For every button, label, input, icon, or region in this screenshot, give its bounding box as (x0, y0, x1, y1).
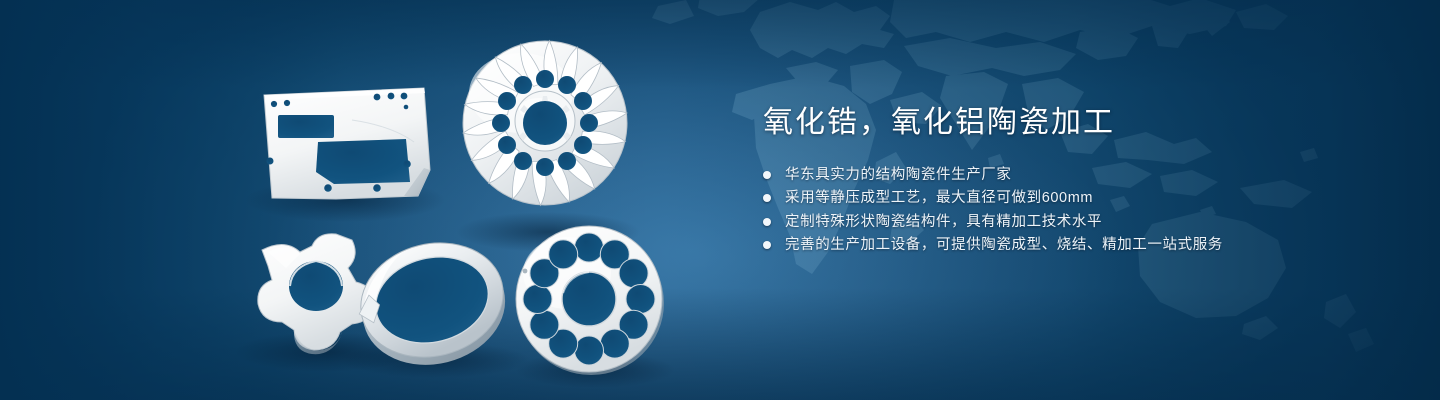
bullet-dot-icon (763, 171, 771, 179)
bullet-dot-icon (763, 241, 771, 249)
feature-text: 采用等静压成型工艺，最大直径可做到600mm (785, 191, 1093, 206)
ceramic-products-image (0, 0, 720, 400)
ceramic-plate-part (264, 88, 430, 199)
feature-text: 完善的生产加工设备，可提供陶瓷成型、烧结、精加工一站式服务 (785, 238, 1223, 253)
list-item: 完善的生产加工设备，可提供陶瓷成型、烧结、精加工一站式服务 (763, 238, 1403, 253)
feature-text: 华东具实力的结构陶瓷件生产厂家 (785, 168, 1012, 183)
promo-banner: 氧化锆，氧化铝陶瓷加工 华东具实力的结构陶瓷件生产厂家 采用等静压成型工艺，最大… (0, 0, 1440, 400)
banner-title: 氧化锆，氧化铝陶瓷加工 (763, 104, 1403, 142)
feature-text: 定制特殊形状陶瓷结构件，具有精加工技术水平 (785, 215, 1102, 230)
list-item: 定制特殊形状陶瓷结构件，具有精加工技术水平 (763, 215, 1403, 230)
list-item: 采用等静压成型工艺，最大直径可做到600mm (763, 191, 1403, 206)
bullet-dot-icon (763, 218, 771, 226)
banner-copy: 氧化锆，氧化铝陶瓷加工 华东具实力的结构陶瓷件生产厂家 采用等静压成型工艺，最大… (763, 104, 1403, 262)
ceramic-perforated-disc-part (516, 226, 664, 375)
ceramic-impeller-part (463, 40, 627, 206)
feature-list: 华东具实力的结构陶瓷件生产厂家 采用等静压成型工艺，最大直径可做到600mm 定… (763, 168, 1403, 253)
list-item: 华东具实力的结构陶瓷件生产厂家 (763, 168, 1403, 183)
bullet-dot-icon (763, 194, 771, 202)
